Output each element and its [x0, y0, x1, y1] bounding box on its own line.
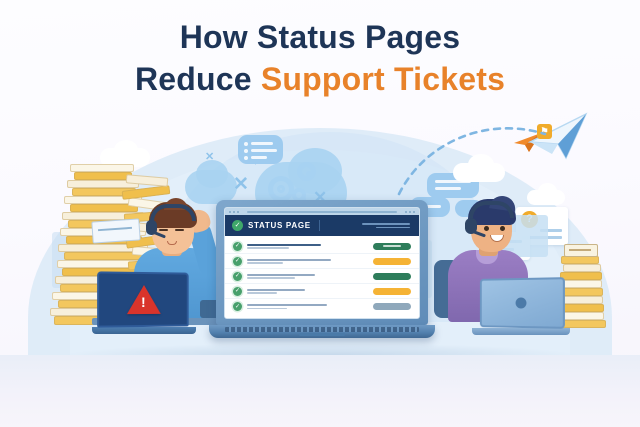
floor-surface	[0, 355, 640, 427]
status-row[interactable]: ✓	[225, 284, 419, 299]
agent-left-laptop	[98, 272, 196, 334]
status-badge	[373, 258, 411, 265]
laptop-lid: ✓ STATUS PAGE ✓	[216, 200, 428, 325]
status-page-subtitle-block	[328, 223, 412, 228]
page-title: How Status Pages Reduce Support Tickets	[0, 18, 640, 98]
status-page-rows: ✓ ✓	[225, 236, 419, 318]
status-row-labels	[247, 259, 368, 264]
status-badge	[373, 273, 411, 280]
agent-right-laptop	[478, 278, 570, 335]
agent-right-eye-left	[484, 226, 489, 231]
status-page-title: STATUS PAGE	[248, 221, 311, 230]
check-circle-icon: ✓	[232, 220, 243, 231]
agent-left-laptop-screen	[97, 271, 189, 327]
check-circle-icon: ✓	[233, 302, 242, 311]
browser-dot-1	[229, 211, 231, 213]
x-mark-icon-1: ✕	[233, 173, 249, 196]
agent-left-laptop-base	[92, 327, 196, 334]
status-badge	[373, 288, 411, 295]
browser-chrome-bar	[225, 208, 419, 215]
flow-arrow-arc	[395, 108, 615, 198]
status-page-laptop: ✓ STATUS PAGE ✓	[216, 200, 428, 338]
laptop-base	[209, 325, 435, 338]
browser-dot-5	[409, 211, 411, 213]
check-circle-icon: ✓	[233, 257, 242, 266]
browser-url-bar[interactable]	[247, 211, 397, 213]
status-row-labels	[247, 274, 368, 279]
browser-dot-6	[413, 211, 415, 213]
warning-triangle-icon	[127, 285, 161, 314]
check-circle-icon: ✓	[233, 272, 242, 281]
status-row[interactable]: ✓	[225, 254, 419, 269]
agent-right-eye-right	[500, 226, 505, 231]
agent-right-laptop-screen	[480, 277, 565, 329]
agent-right-headset-band	[469, 201, 514, 218]
laptop-keyboard	[225, 327, 419, 332]
status-row[interactable]: ✓	[225, 239, 419, 254]
status-badge	[373, 303, 411, 310]
agent-right-laptop-base	[472, 328, 570, 335]
gear-icon-large	[268, 176, 294, 202]
gear-icon-small	[297, 162, 316, 181]
check-circle-icon: ✓	[233, 287, 242, 296]
title-line-1: How Status Pages	[0, 18, 640, 56]
status-row-labels	[247, 289, 368, 294]
status-page-header: ✓ STATUS PAGE	[225, 215, 419, 236]
title-line-2: Reduce Support Tickets	[0, 60, 640, 98]
title-line-2-prefix: Reduce	[135, 61, 261, 97]
status-row[interactable]: ✓	[225, 299, 419, 314]
browser-dot-4	[405, 211, 407, 213]
laptop-trackpad	[299, 333, 345, 336]
browser-dot-2	[233, 211, 235, 213]
cloud-icon-1b	[114, 140, 138, 160]
header-divider	[319, 220, 320, 231]
status-badge	[373, 243, 411, 250]
x-mark-icon-3: ✕	[205, 150, 214, 163]
browser-dot-3	[237, 211, 239, 213]
status-row[interactable]: ✓	[225, 269, 419, 284]
chat-bubble-center	[238, 135, 283, 164]
laptop-screen: ✓ STATUS PAGE ✓	[224, 207, 420, 319]
title-line-2-accent: Support Tickets	[261, 61, 505, 97]
agent-left-eye-left	[159, 229, 168, 231]
check-circle-icon: ✓	[233, 242, 242, 251]
agent-left-headset-band	[150, 204, 196, 221]
agent-left-eye-right	[175, 229, 184, 231]
status-row-labels	[247, 304, 368, 309]
status-row-labels	[247, 244, 368, 249]
cloud-blob-left-2	[196, 160, 228, 188]
infographic-canvas: ✕ ✕ ✕ ⚑	[0, 0, 640, 427]
